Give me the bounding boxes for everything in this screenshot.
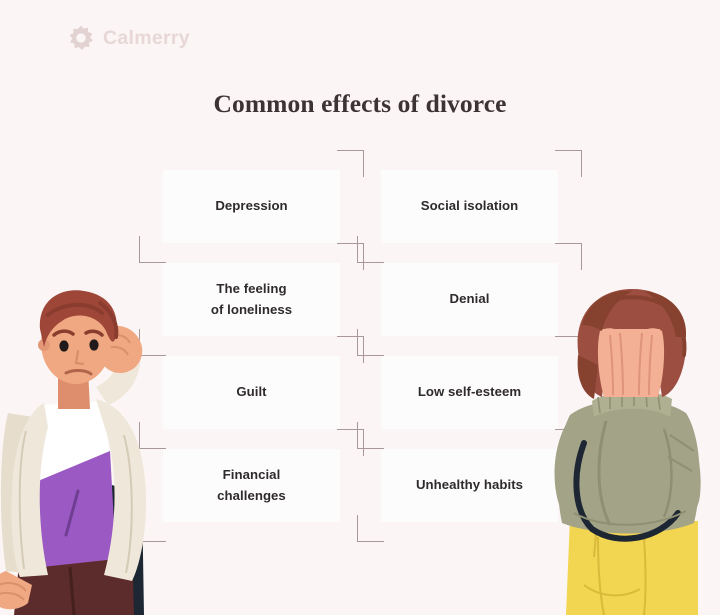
corner-bracket-bottom-left-icon [139, 236, 166, 263]
corner-bracket-top-right-icon [337, 150, 364, 177]
flower-gear-icon [68, 25, 94, 51]
effect-label: Unhealthy habits [416, 475, 523, 495]
corner-bracket-top-right-icon [555, 243, 582, 270]
effect-card-feeling-of-loneliness[interactable]: The feeling of loneliness [163, 263, 340, 336]
effects-card-grid: Depression Social isolation The feeling … [163, 170, 558, 522]
card-slot-social-isolation: Social isolation [381, 170, 558, 243]
effect-label: The feeling of loneliness [211, 279, 292, 320]
crying-woman-illustration [548, 285, 720, 615]
effect-card-unhealthy-habits[interactable]: Unhealthy habits [381, 449, 558, 522]
card-slot-unhealthy-habits: Unhealthy habits [381, 449, 558, 522]
corner-bracket-bottom-left-icon [357, 422, 384, 449]
brand-logo[interactable]: Calmerry [68, 25, 190, 51]
corner-bracket-top-right-icon [337, 243, 364, 270]
effect-label: Depression [215, 196, 287, 216]
worried-man-illustration [0, 285, 182, 615]
effect-card-denial[interactable]: Denial [381, 263, 558, 336]
card-slot-guilt: Guilt [163, 356, 340, 429]
effect-card-low-self-esteem[interactable]: Low self-esteem [381, 356, 558, 429]
card-slot-financial-challenges: Financial challenges [163, 449, 340, 522]
effect-card-depression[interactable]: Depression [163, 170, 340, 243]
effect-label: Low self-esteem [418, 382, 521, 402]
effect-label: Financial challenges [217, 465, 286, 506]
card-slot-feeling-of-loneliness: The feeling of loneliness [163, 263, 340, 336]
card-slot-denial: Denial [381, 263, 558, 336]
page-title: Common effects of divorce [0, 89, 720, 119]
effect-card-guilt[interactable]: Guilt [163, 356, 340, 429]
card-slot-low-self-esteem: Low self-esteem [381, 356, 558, 429]
effect-label: Denial [450, 289, 490, 309]
corner-bracket-bottom-left-icon [357, 329, 384, 356]
corner-bracket-top-right-icon [337, 336, 364, 363]
effect-card-financial-challenges[interactable]: Financial challenges [163, 449, 340, 522]
card-slot-depression: Depression [163, 170, 340, 243]
corner-bracket-bottom-left-icon [357, 515, 384, 542]
effect-label: Guilt [236, 382, 266, 402]
corner-bracket-top-right-icon [555, 150, 582, 177]
effect-card-social-isolation[interactable]: Social isolation [381, 170, 558, 243]
corner-bracket-bottom-left-icon [357, 236, 384, 263]
brand-name: Calmerry [103, 27, 190, 50]
corner-bracket-top-right-icon [337, 429, 364, 456]
effect-label: Social isolation [421, 196, 519, 216]
infographic-canvas: Calmerry Common effects of divorce Depre… [0, 0, 720, 615]
